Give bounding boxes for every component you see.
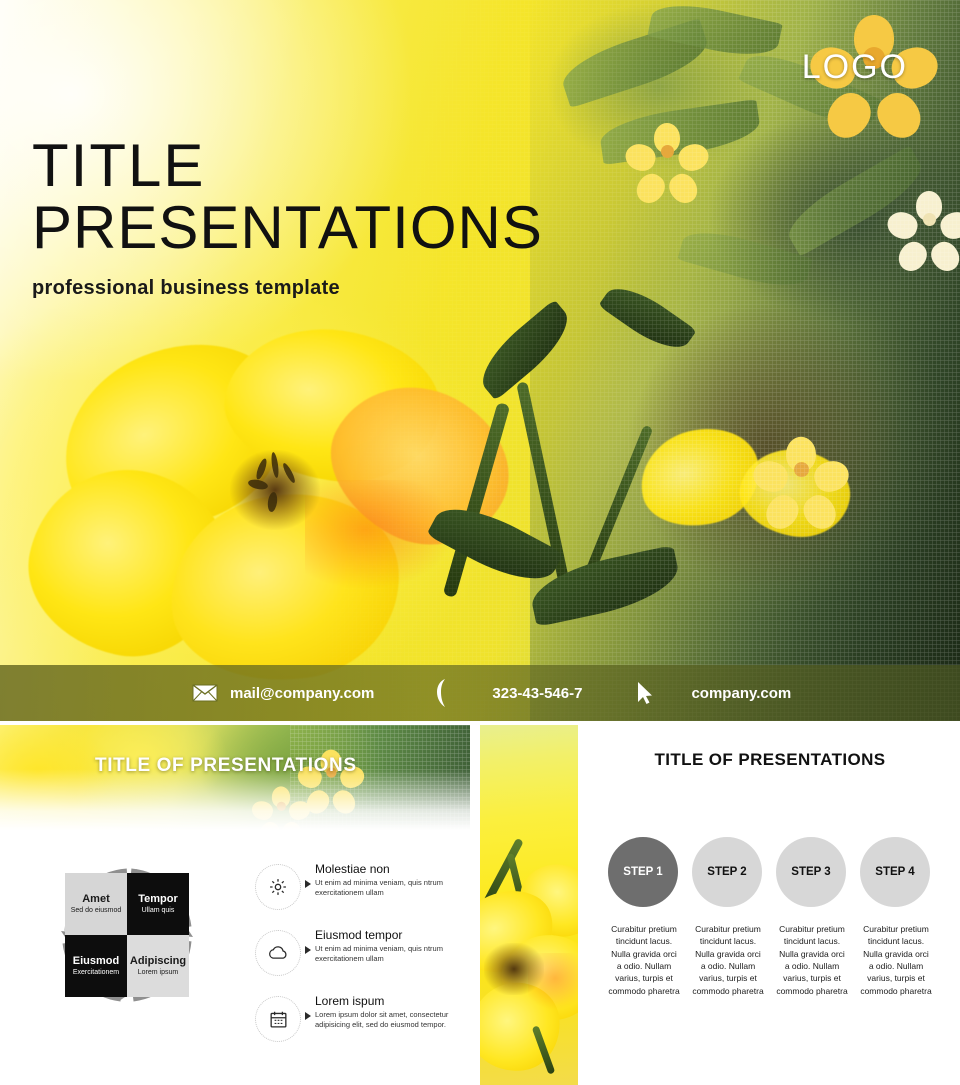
chevron-right-icon [305, 880, 311, 888]
contact-bar: mail@company.com 323-43-546-7 company.co… [0, 665, 960, 721]
list-item-heading: Eiusmod tempor [315, 928, 470, 942]
list-item[interactable]: Lorem ispum Lorem ipsum dolor sit amet, … [255, 994, 470, 1044]
mesh-texture-overlay [0, 0, 960, 721]
page-title-line1: TITLE [32, 135, 543, 196]
list-item-heading: Molestiae non [315, 862, 470, 876]
step-badge[interactable]: STEP 3 [776, 837, 846, 907]
step-column[interactable]: STEP 1 Curabitur pretium tincidunt lacus… [608, 837, 680, 997]
step-text: Curabitur pretium tincidunt lacus. Nulla… [692, 923, 764, 997]
list-item[interactable]: Molestiae non Ut enim ad minima veniam, … [255, 862, 470, 912]
hero-subtitle: professional business template [32, 277, 543, 300]
contact-website-value: company.com [691, 685, 791, 702]
chevron-right-icon [305, 946, 311, 954]
list-item-text: Lorem ipsum dolor sit amet, consectetur … [315, 1010, 470, 1030]
contact-email-value: mail@company.com [230, 685, 374, 702]
step-text: Curabitur pretium tincidunt lacus. Nulla… [608, 923, 680, 997]
cursor-icon [636, 681, 653, 705]
step-text: Curabitur pretium tincidunt lacus. Nulla… [776, 923, 848, 997]
chevron-right-icon [305, 1012, 311, 1020]
list-item[interactable]: Eiusmod tempor Ut enim ad minima veniam,… [255, 928, 470, 978]
contact-email[interactable]: mail@company.com [192, 684, 374, 702]
hero-slide: LOGO TITLE PRESENTATIONS professional bu… [0, 0, 960, 721]
step-badge[interactable]: STEP 1 [608, 837, 678, 907]
step-text: Curabitur pretium tincidunt lacus. Nulla… [860, 923, 932, 997]
list-item-text: Ut enim ad minima veniam, quis ntrum exe… [315, 944, 470, 964]
gear-icon [255, 864, 301, 910]
slide-deck-preview: LOGO TITLE PRESENTATIONS professional bu… [0, 0, 960, 1085]
step-column[interactable]: STEP 4 Curabitur pretium tincidunt lacus… [860, 837, 932, 997]
cycle-quadrant[interactable]: Adipiscing Lorem ipsum [127, 935, 189, 997]
cycle-quadrant[interactable]: Amet Sed do eiusmod [65, 873, 127, 935]
steps-row: STEP 1 Curabitur pretium tincidunt lacus… [580, 837, 960, 997]
slide-left-header-image [0, 725, 470, 830]
step-badge[interactable]: STEP 4 [860, 837, 930, 907]
slide-right: TITLE OF PRESENTATIONS STEP 1 Curabitur … [580, 725, 960, 1085]
step-column[interactable]: STEP 2 Curabitur pretium tincidunt lacus… [692, 837, 764, 997]
cycle-diagram: Amet Sed do eiusmod Tempor Ullam quis Ei… [57, 865, 197, 1005]
page-title-line2: PRESENTATIONS [32, 196, 543, 261]
cycle-quadrant[interactable]: Tempor Ullam quis [127, 873, 189, 935]
logo-text: LOGO [802, 48, 908, 87]
list-item-text: Ut enim ad minima veniam, quis ntrum exe… [315, 878, 470, 898]
contact-phone[interactable]: 323-43-546-7 [434, 678, 582, 708]
bullet-list: Molestiae non Ut enim ad minima veniam, … [255, 862, 470, 1060]
slide-left-title: TITLE OF PRESENTATIONS [95, 755, 357, 777]
step-badge[interactable]: STEP 2 [692, 837, 762, 907]
hero-title-block: TITLE PRESENTATIONS professional busines… [32, 135, 543, 300]
slide-right-title: TITLE OF PRESENTATIONS [580, 750, 960, 770]
contact-website[interactable]: company.com [636, 681, 791, 705]
phone-icon [434, 678, 452, 708]
cycle-quadrant[interactable]: Eiusmod Exercitationem [65, 935, 127, 997]
cloud-icon [255, 930, 301, 976]
list-item-heading: Lorem ispum [315, 994, 470, 1008]
step-column[interactable]: STEP 3 Curabitur pretium tincidunt lacus… [776, 837, 848, 997]
contact-phone-value: 323-43-546-7 [492, 685, 582, 702]
slide-middle-image [480, 725, 578, 1085]
envelope-icon [192, 684, 218, 702]
calendar-icon [255, 996, 301, 1042]
